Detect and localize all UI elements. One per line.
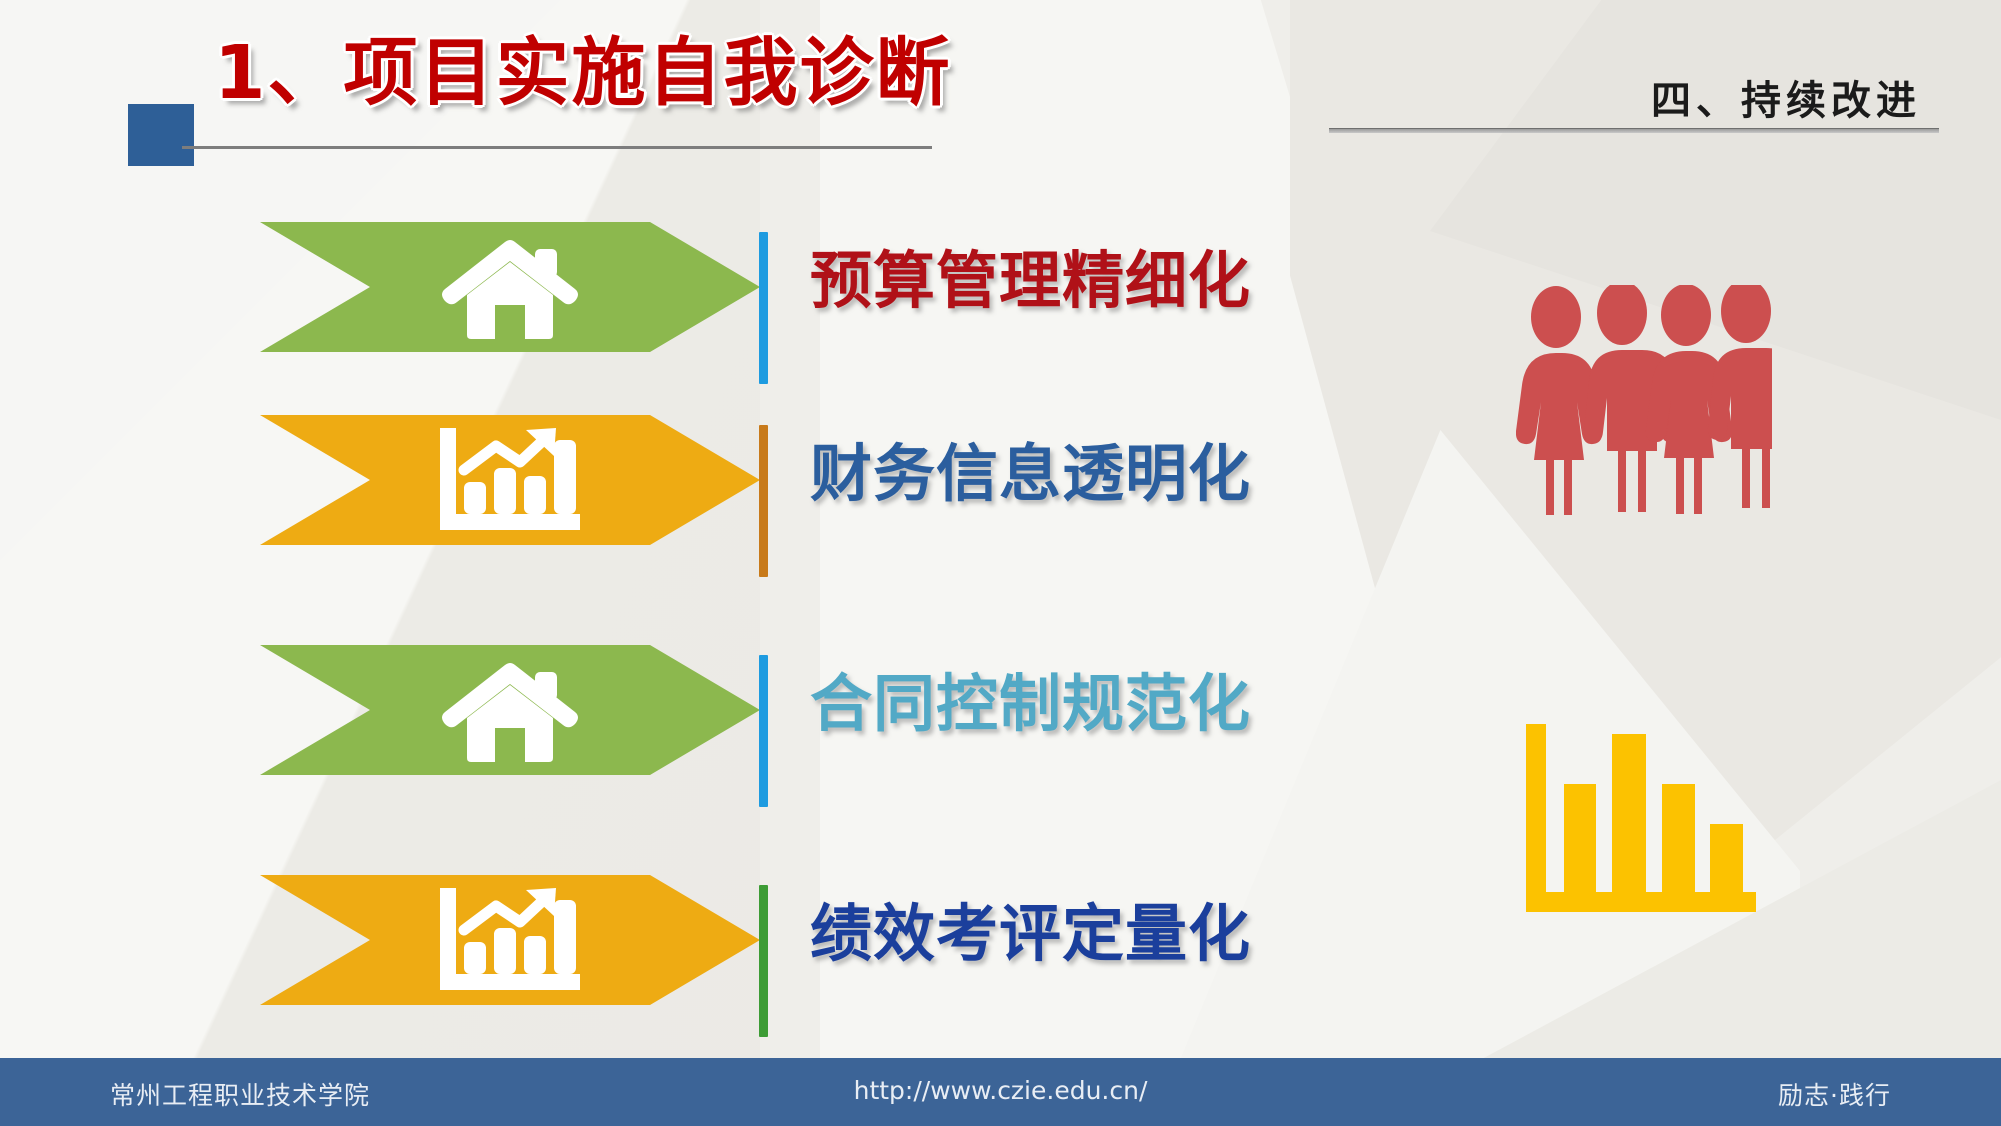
- row-divider-2: [759, 425, 768, 577]
- footer-institution: 常州工程职业技术学院: [110, 1076, 370, 1112]
- footer-motto: 励志·践行: [1778, 1076, 1891, 1112]
- content-row-2[interactable]: 财务信息透明化: [260, 415, 1360, 545]
- footer-url[interactable]: http://www.czie.edu.cn/: [854, 1076, 1148, 1105]
- people-group-icon: [1516, 285, 1772, 515]
- slide-header: 1、项目实施自我诊断 四、持续改进: [0, 0, 2001, 160]
- slide-footer: 常州工程职业技术学院 http://www.czie.edu.cn/ 励志·践行: [0, 1058, 2001, 1126]
- row-label-4: 绩效考评定量化: [810, 903, 1251, 965]
- content-row-4[interactable]: 绩效考评定量化: [260, 875, 1360, 1005]
- header-accent-square: [128, 104, 194, 166]
- content-row-3[interactable]: 合同控制规范化: [260, 645, 1360, 775]
- chevron-shape-1: [260, 222, 760, 352]
- row-label-1: 预算管理精细化: [810, 250, 1251, 312]
- header-underline: [182, 146, 932, 149]
- chevron-shape-3: [260, 645, 760, 775]
- section-label: 四、持续改进: [1651, 68, 1921, 126]
- row-divider-3: [759, 655, 768, 807]
- slide-canvas: 1、项目实施自我诊断 四、持续改进 预算管理精细化: [0, 0, 2001, 1126]
- content-row-1[interactable]: 预算管理精细化: [260, 222, 1360, 352]
- chevron-shape-4: [260, 875, 760, 1005]
- row-label-2: 财务信息透明化: [810, 443, 1251, 505]
- row-divider-1: [759, 232, 768, 384]
- chevron-shape-2: [260, 415, 760, 545]
- bar-chart-icon: [1526, 718, 1756, 930]
- page-title: 1、项目实施自我诊断: [214, 36, 952, 110]
- row-label-3: 合同控制规范化: [810, 673, 1251, 735]
- section-underline: [1329, 128, 1939, 133]
- row-divider-4: [759, 885, 768, 1037]
